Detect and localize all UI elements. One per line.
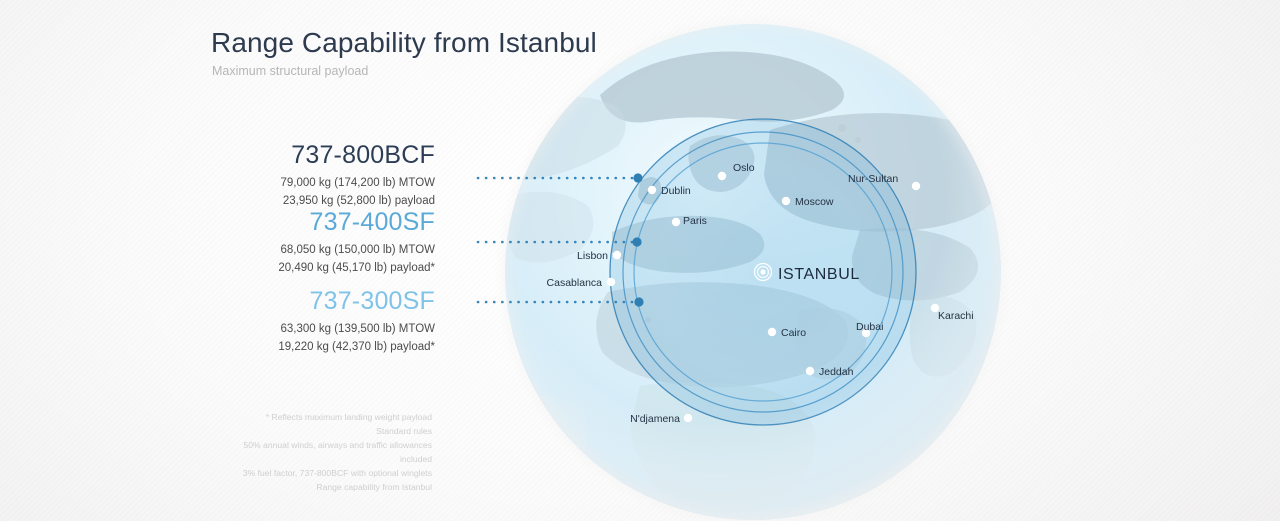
- range-ring-737-300sf: [634, 143, 892, 401]
- legend-model-name: 737-400SF: [175, 209, 435, 235]
- city-label-lisbon: Lisbon: [577, 250, 608, 262]
- leader-lines: [478, 173, 644, 306]
- footnote-line: Standard rules: [192, 425, 432, 439]
- istanbul-origin-marker: [755, 264, 772, 281]
- leader-endpoint-737-300sf: [634, 297, 643, 306]
- legend-entry-737-300sf: 737-300SF 63,300 kg (139,500 lb) MTOW 19…: [175, 288, 435, 356]
- city-label-dubai: Dubai: [856, 321, 883, 333]
- legend-mtow: 68,050 kg (150,000 lb) MTOW: [175, 242, 435, 259]
- globe-contents: [492, 24, 1006, 520]
- city-label-karachi: Karachi: [938, 310, 974, 322]
- leader-endpoint-737-800bcf: [633, 173, 642, 182]
- city-label-oslo: Oslo: [733, 162, 755, 174]
- legend-mtow: 79,000 kg (174,200 lb) MTOW: [175, 175, 435, 192]
- legend-entry-737-800bcf: 737-800BCF 79,000 kg (174,200 lb) MTOW 2…: [175, 142, 435, 210]
- landmasses: [492, 52, 1006, 512]
- legend-model-name: 737-300SF: [175, 288, 435, 314]
- footnote-line: 50% annual winds, airways and traffic al…: [192, 439, 432, 453]
- page-subtitle: Maximum structural payload: [212, 64, 368, 78]
- city-label-moscow: Moscow: [795, 196, 834, 208]
- legend-entry-737-400sf: 737-400SF 68,050 kg (150,000 lb) MTOW 20…: [175, 209, 435, 277]
- footnote-line: Range capability from Istanbul: [192, 481, 432, 495]
- legend-payload: 20,490 kg (45,170 lb) payload*: [175, 260, 435, 277]
- city-label-cairo: Cairo: [781, 327, 806, 339]
- legend-payload: 19,220 kg (42,370 lb) payload*: [175, 339, 435, 356]
- footnote-line: 3% fuel factor, 737-800BCF with optional…: [192, 467, 432, 481]
- page-title: Range Capability from Istanbul: [211, 27, 597, 59]
- globe-sphere: [505, 24, 1001, 520]
- range-area-fill: [610, 119, 916, 425]
- city-labels: Oslo Dublin Paris Moscow Nur-Sultan Lisb…: [547, 162, 974, 425]
- city-label-ndjamena: N'djamena: [630, 413, 680, 425]
- city-label-casablanca: Casablanca: [547, 277, 603, 289]
- legend-model-name: 737-800BCF: [175, 142, 435, 168]
- range-ring-737-400sf: [623, 132, 903, 412]
- city-label-paris: Paris: [683, 215, 707, 227]
- city-label-dublin: Dublin: [661, 185, 691, 197]
- range-ring-737-800bcf: [610, 119, 916, 425]
- globe-limb-fade: [506, 25, 1000, 519]
- range-capability-infographic: Oslo Dublin Paris Moscow Nur-Sultan Lisb…: [0, 0, 1280, 521]
- footnote-line: included: [192, 453, 432, 467]
- leader-endpoint-737-400sf: [632, 237, 641, 246]
- city-label-nur-sultan: Nur-Sultan: [848, 173, 898, 185]
- legend-mtow: 63,300 kg (139,500 lb) MTOW: [175, 321, 435, 338]
- footnotes: * Reflects maximum landing weight payloa…: [192, 411, 432, 495]
- origin-label-istanbul: ISTANBUL: [778, 266, 860, 283]
- footnote-line: * Reflects maximum landing weight payloa…: [192, 411, 432, 425]
- city-label-jeddah: Jeddah: [819, 366, 854, 378]
- city-dots: [607, 172, 939, 422]
